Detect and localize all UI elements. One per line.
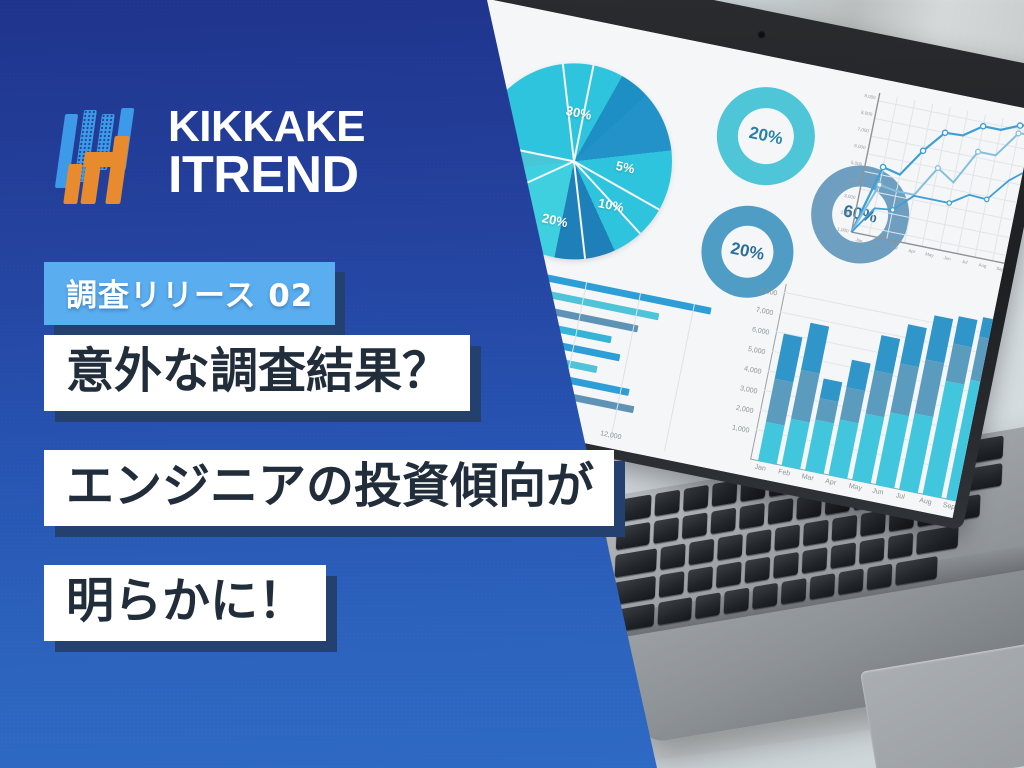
release-badge: 調査リリース 02 xyxy=(44,262,335,325)
y-tick: 2,000 xyxy=(840,210,853,217)
x-tick: Aug xyxy=(919,497,933,506)
y-tick: 8,000 xyxy=(759,287,778,297)
headline-text-1: 意外な調査結果？ xyxy=(44,335,470,411)
x-tick: Sep xyxy=(996,266,1005,273)
y-tick: 3,000 xyxy=(739,385,758,395)
headline-line-2: エンジニアの投資傾向が xyxy=(44,450,614,526)
x-tick: Jul xyxy=(895,492,905,501)
x-tick: May xyxy=(925,251,935,258)
x-tick: Mar xyxy=(890,244,899,251)
y-tick: 7,000 xyxy=(857,126,870,133)
x-tick: Jun xyxy=(943,255,951,261)
donut-value: 20% xyxy=(729,239,766,265)
headline-text-3: 明らかに！ xyxy=(44,565,326,641)
x-tick: Sep xyxy=(942,502,956,511)
brand-wordmark: KIKKAKE ITREND xyxy=(168,106,365,201)
y-tick: 8,000 xyxy=(861,110,874,117)
y-tick: 6,000 xyxy=(751,326,770,336)
y-tick: 9,000 xyxy=(864,93,877,100)
donut-value: 20% xyxy=(747,123,784,149)
webcam-icon xyxy=(756,29,767,40)
y-tick: 5,000 xyxy=(850,160,863,167)
headline-line-3: 明らかに！ xyxy=(44,565,326,641)
headline-text-2: エンジニアの投資傾向が xyxy=(44,450,614,526)
y-tick: 4,000 xyxy=(743,366,762,376)
x-tick: Apr xyxy=(908,248,916,254)
y-tick: 7,000 xyxy=(755,307,774,317)
kikkake-itrend-bar-logo-icon xyxy=(58,108,154,208)
y-tick: 2,000 xyxy=(735,405,754,415)
badge-label: 調査リリース 02 xyxy=(44,262,335,325)
x-tick: Feb xyxy=(777,468,790,477)
brand-logo[interactable]: KIKKAKE ITREND xyxy=(58,108,365,208)
y-tick: 1,000 xyxy=(837,226,850,233)
x-tick: Aug xyxy=(978,262,987,269)
y-tick: 6,000 xyxy=(854,143,867,150)
x-tick: Mar xyxy=(801,473,814,482)
y-tick: 1,000 xyxy=(731,424,750,434)
logo-line-2: ITREND xyxy=(168,151,365,201)
headline-line-1: 意外な調査結果？ xyxy=(44,335,470,411)
x-tick: Apr xyxy=(825,478,837,487)
x-tick: Feb xyxy=(872,241,881,248)
x-tick: Jul xyxy=(962,259,969,265)
y-tick: 4,000 xyxy=(847,176,860,183)
x-tick: Jan xyxy=(754,464,766,473)
logo-line-1: KIKKAKE xyxy=(168,106,365,148)
stacked-bar-chart: 1,000 2,000 3,000 4,000 5,000 6,000 7,00… xyxy=(721,279,1005,518)
x-tick: May xyxy=(848,483,862,492)
y-tick: 5,000 xyxy=(747,346,766,356)
y-tick: 3,000 xyxy=(844,193,857,200)
x-tick: Jun xyxy=(872,488,884,497)
donut-chart-1: 20% xyxy=(708,78,824,194)
poster-canvas: 30% 5% 10% 20% 10% 20% 20% 20% xyxy=(0,0,1024,768)
x-tick: Jan xyxy=(855,237,863,243)
